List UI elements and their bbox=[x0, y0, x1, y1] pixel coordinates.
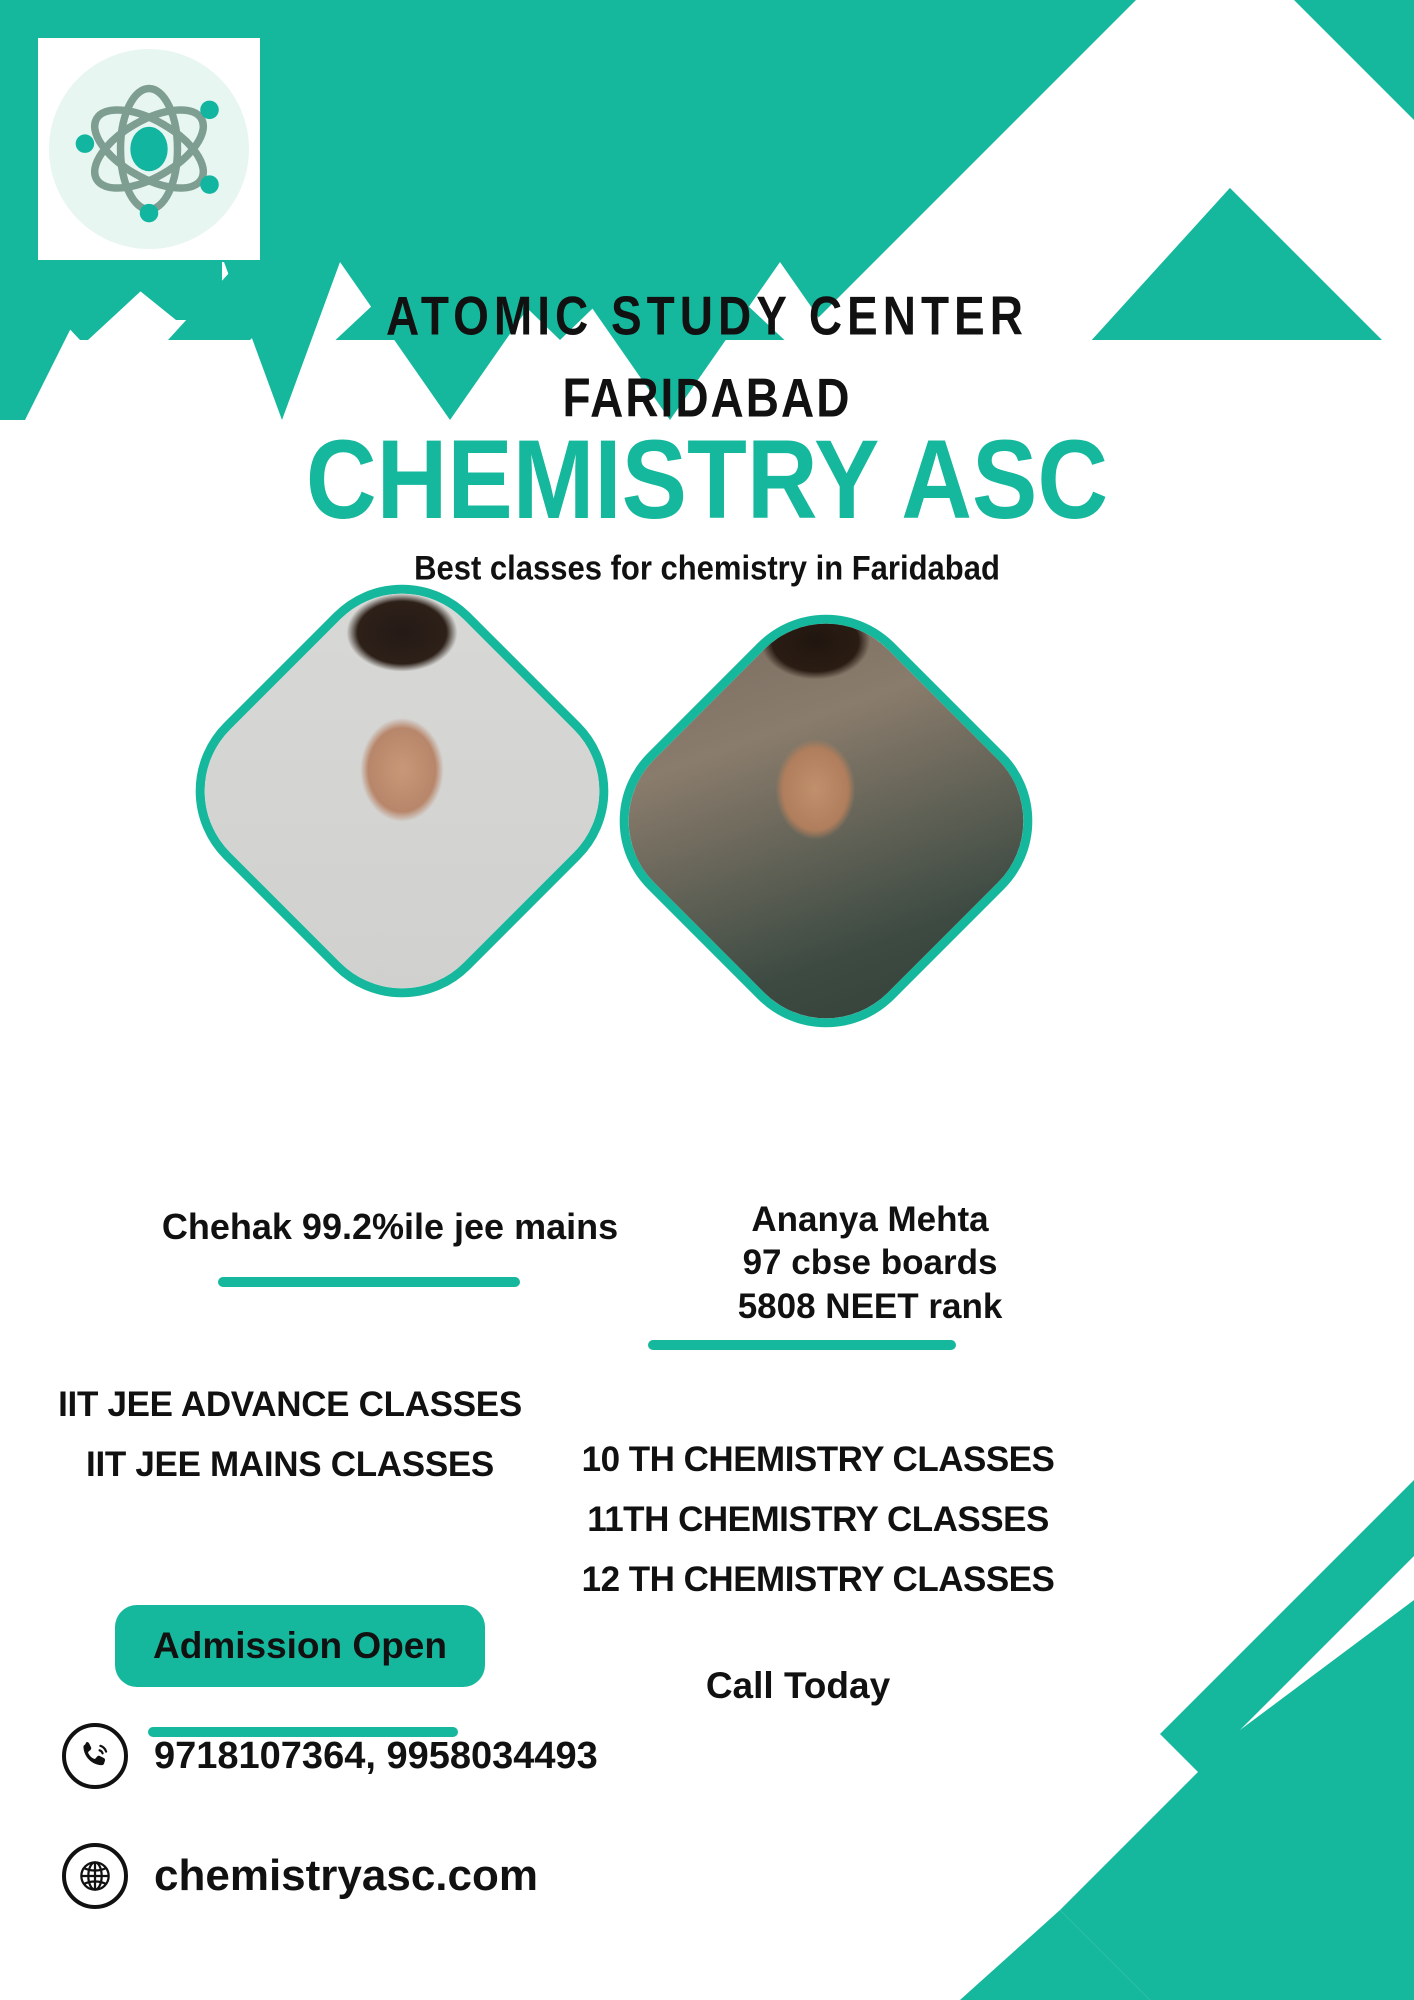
student-photo-right-image bbox=[580, 575, 1072, 1067]
student-caption-left: Chehak 99.2%ile jee mains bbox=[110, 1206, 670, 1248]
student-photo-right bbox=[580, 575, 1072, 1067]
student-photo-left-image bbox=[156, 545, 648, 1037]
org-title-line1: ATOMIC STUDY CENTER bbox=[0, 284, 1414, 348]
tagline: Best classes for chemistry in Faridabad bbox=[0, 548, 1414, 588]
atom-icon bbox=[60, 60, 238, 238]
logo-circle bbox=[49, 49, 249, 249]
courses-left-list: IIT JEE ADVANCE CLASSES IIT JEE MAINS CL… bbox=[20, 1375, 560, 1495]
course-item-iit-advance: IIT JEE ADVANCE CLASSES bbox=[20, 1375, 560, 1435]
student-photo-left bbox=[156, 545, 648, 1037]
poster-canvas: ATOMIC STUDY CENTER FARIDABAD CHEMISTRY … bbox=[0, 0, 1414, 2000]
divider-right bbox=[648, 1340, 956, 1350]
logo-card bbox=[38, 38, 260, 260]
top-decoration bbox=[0, 0, 1414, 420]
right-chevron-decoration bbox=[994, 1140, 1414, 1760]
brand-title: CHEMISTRY ASC bbox=[14, 424, 1400, 536]
divider-left bbox=[218, 1277, 520, 1287]
